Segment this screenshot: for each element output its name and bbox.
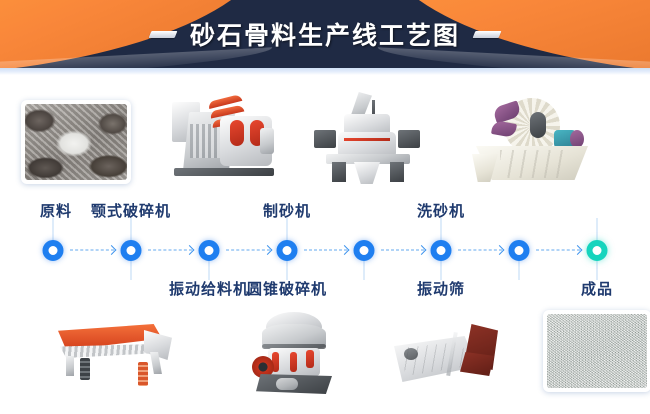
station-top-3-art — [310, 92, 430, 188]
jaw-crusher-flywheel-a — [230, 120, 244, 146]
jaw-crusher-base — [174, 168, 274, 176]
station-top-3[interactable]: 制砂机 — [247, 200, 327, 221]
vibrating-feeder-leg-left — [66, 356, 74, 376]
stem-down-5 — [364, 260, 365, 280]
station-top-3-label: 制砂机 — [247, 200, 327, 221]
station-bottom-1-label: 振动给料机 — [169, 278, 249, 299]
stem-down-1 — [131, 260, 132, 280]
station-bottom-1-art — [52, 318, 182, 398]
station-bottom-2-label: 圆锥破碎机 — [247, 278, 327, 299]
finished-product-photo-frame — [543, 310, 650, 392]
flow-node-7[interactable] — [509, 240, 530, 261]
sand-maker-leg-right — [390, 162, 404, 182]
flow-node-6[interactable] — [431, 240, 452, 261]
header-title-row: 砂石骨料生产线工艺图 — [0, 0, 650, 68]
station-top-5[interactable]: 洗砂机 — [557, 200, 637, 221]
station-bottom-1[interactable]: 振动给料机 — [169, 278, 249, 299]
vibrating-screen-deck-lower — [460, 352, 494, 376]
sand-washer-tank-ribs — [500, 150, 566, 178]
station-top-4[interactable]: 洗砂机 — [401, 200, 481, 221]
flow-node-3[interactable] — [199, 240, 220, 261]
stem-up-0 — [53, 218, 54, 242]
stem-down-3 — [441, 260, 442, 280]
process-flow-diagram: 砂石骨料生产线工艺图 — [0, 0, 650, 414]
vibrating-screen-port — [404, 348, 418, 360]
stem-down-6 — [519, 260, 520, 280]
station-bottom-3[interactable]: 振动筛 — [401, 278, 481, 299]
stem-up-2 — [287, 218, 288, 242]
station-bottom-2[interactable]: 圆锥破碎机 — [247, 278, 327, 299]
station-bottom-3-label: 振动筛 — [401, 278, 481, 299]
stem-up-3 — [441, 218, 442, 242]
flow-node-8[interactable] — [587, 240, 608, 261]
flow-arrow-6 — [458, 250, 502, 251]
sand-maker-stripe — [344, 138, 390, 141]
sand-maker-outlet — [354, 162, 380, 184]
station-top-2-art — [160, 88, 290, 188]
raw-material-photo-frame — [21, 100, 131, 184]
station-top-1-art — [18, 100, 133, 186]
station-bottom-4-label: 成品 — [557, 278, 637, 299]
stem-down-4 — [597, 260, 598, 280]
header-separator-band — [0, 68, 650, 75]
flow-node-4[interactable] — [277, 240, 298, 261]
vibrating-feeder-spring-left — [80, 358, 90, 380]
flow-arrow-4 — [304, 250, 347, 251]
station-bottom-1-anchor: 振动给料机 — [91, 278, 171, 299]
sand-maker-motor-right — [398, 130, 420, 148]
flow-node-5[interactable] — [354, 240, 375, 261]
page-title: 砂石骨料生产线工艺图 — [190, 16, 460, 52]
sand-washer-hub — [530, 112, 546, 138]
flow-arrow-1 — [70, 250, 114, 251]
dash-right-icon — [473, 31, 502, 38]
sand-maker-leg-left — [332, 162, 346, 182]
stem-down-0 — [209, 260, 210, 280]
flow-arrow-3 — [226, 250, 270, 251]
jaw-crusher-belt-guard — [260, 128, 274, 154]
station-top-1[interactable]: 原料 — [8, 200, 104, 221]
vibrating-feeder-spring-right — [138, 362, 148, 386]
station-bottom-3-art — [390, 318, 520, 398]
raw-material-photo — [25, 104, 127, 180]
station-top-4-art — [470, 96, 600, 188]
cone-crusher-cylinder-b — [290, 352, 297, 372]
station-bottom-4[interactable]: 成品 — [557, 278, 637, 299]
cone-crusher-cylinder-c — [306, 350, 314, 368]
stem-up-1 — [131, 218, 132, 242]
sand-maker-motor-left — [314, 130, 336, 148]
stem-down-2 — [287, 260, 288, 280]
sand-washer-pulley — [570, 130, 584, 148]
flow-arrow-7 — [536, 250, 580, 251]
flow-arrow-5 — [381, 250, 424, 251]
station-top-1-label: 原料 — [8, 200, 104, 221]
station-bottom-2-art — [240, 308, 350, 404]
station-top-4-label: 洗砂机 — [401, 200, 481, 221]
station-top-2-label: 颚式破碎机 — [91, 200, 171, 221]
flow-node-1[interactable] — [43, 240, 64, 261]
flow-node-2[interactable] — [121, 240, 142, 261]
finished-product-photo — [547, 314, 647, 388]
process-flow-line — [0, 240, 650, 262]
dash-left-icon — [149, 31, 178, 38]
station-top-2[interactable]: 颚式破碎机 — [91, 200, 171, 221]
cone-crusher-motor — [276, 378, 298, 390]
flow-arrow-2 — [148, 250, 192, 251]
station-bottom-4-art — [540, 310, 650, 398]
stem-up-4 — [597, 218, 598, 242]
